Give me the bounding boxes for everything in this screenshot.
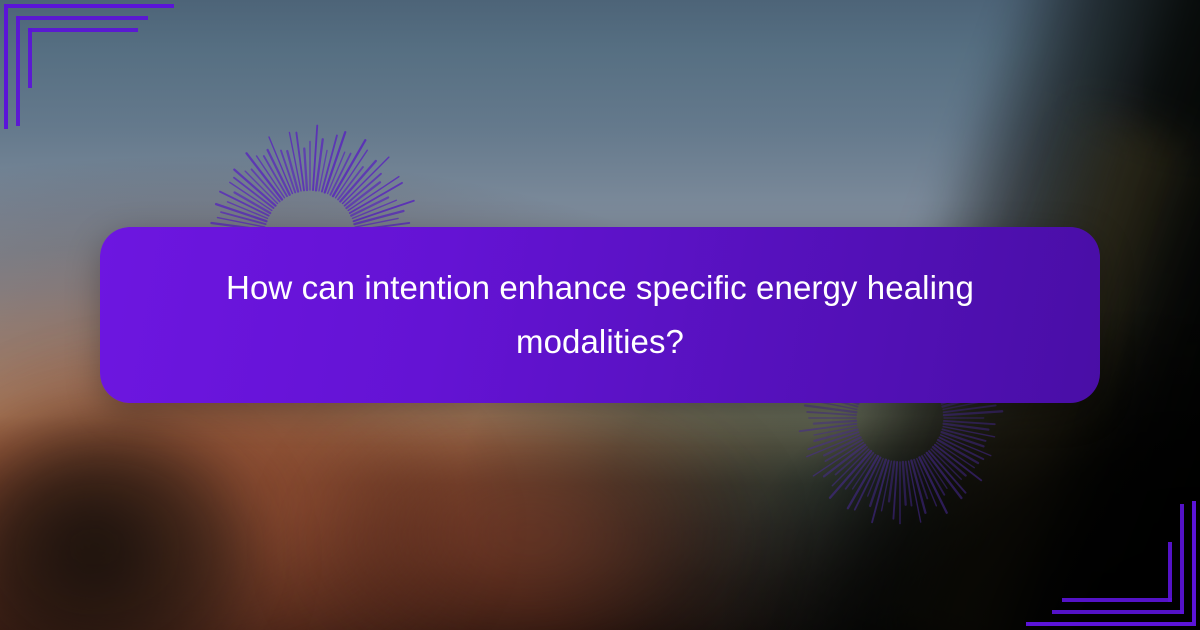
bracket-br-v3 bbox=[1168, 542, 1172, 602]
quote-text: How can intention enhance specific energ… bbox=[220, 261, 980, 369]
bracket-tl-v2 bbox=[16, 16, 20, 126]
quote-card: How can intention enhance specific energ… bbox=[100, 227, 1100, 403]
bracket-tl-h1 bbox=[4, 4, 174, 8]
bracket-br-h3 bbox=[1062, 598, 1172, 602]
bracket-tl-h3 bbox=[28, 28, 138, 32]
bracket-br-h2 bbox=[1052, 610, 1184, 614]
bracket-br-v1 bbox=[1192, 501, 1196, 626]
bracket-br-h1 bbox=[1026, 622, 1196, 626]
bracket-tl-h2 bbox=[16, 16, 148, 20]
social-quote-card-image: How can intention enhance specific energ… bbox=[0, 0, 1200, 630]
bracket-br-v2 bbox=[1180, 504, 1184, 614]
bracket-tl-v3 bbox=[28, 28, 32, 88]
bracket-tl-v1 bbox=[4, 4, 8, 129]
